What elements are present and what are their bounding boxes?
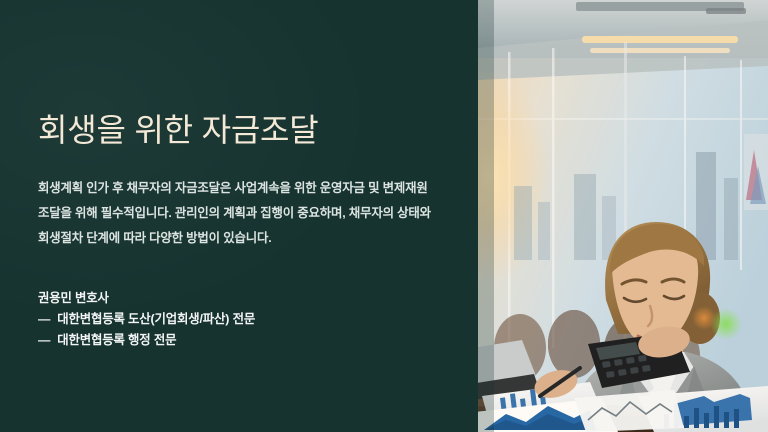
em-dash-bullet-icon: — [38, 309, 50, 330]
credential-item: — 대한변협등록 도산(기업회생/파산) 전문 [38, 309, 442, 330]
office-scene-illustration [478, 0, 768, 432]
credentials-block: 권용민 변호사 — 대한변협등록 도산(기업회생/파산) 전문 — 대한변협등록… [38, 288, 442, 352]
hero-photograph [478, 0, 768, 432]
credential-item: — 대한변협등록 행정 전문 [38, 330, 442, 351]
content-block: 회생을 위한 자금조달 회생계획 인가 후 채무자의 자금조달은 사업계속을 위… [38, 112, 442, 352]
slide-root: 회생을 위한 자금조달 회생계획 인가 후 채무자의 자금조달은 사업계속을 위… [0, 0, 768, 432]
credential-label: 대한변협등록 행정 전문 [57, 330, 176, 351]
credential-label: 대한변협등록 도산(기업회생/파산) 전문 [57, 309, 255, 330]
color-grade-overlay [478, 0, 768, 432]
text-panel: 회생을 위한 자금조달 회생계획 인가 후 채무자의 자금조달은 사업계속을 위… [0, 0, 478, 432]
body-paragraph: 회생계획 인가 후 채무자의 자금조달은 사업계속을 위한 운영자금 및 변제재… [38, 176, 440, 252]
em-dash-bullet-icon: — [38, 330, 50, 351]
lawyer-name: 권용민 변호사 [38, 288, 442, 309]
page-title: 회생을 위한 자금조달 [38, 112, 442, 150]
left-edge-shade [478, 0, 494, 432]
